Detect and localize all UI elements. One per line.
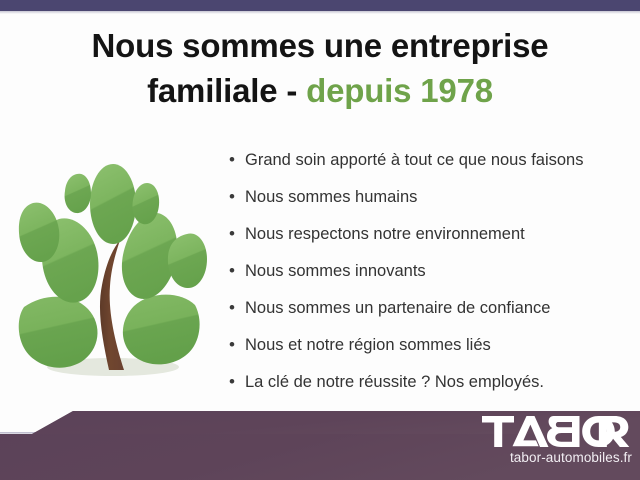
bullet-marker-icon: • — [229, 259, 245, 283]
bullet-marker-icon: • — [229, 333, 245, 357]
bullet-marker-icon: • — [229, 370, 245, 394]
logo-letter-b — [547, 416, 580, 447]
tree-leaf-lower-right — [123, 295, 200, 365]
list-item-label: Nous et notre région sommes liés — [245, 333, 491, 357]
list-item: • Nous sommes un partenaire de confiance — [229, 296, 629, 333]
brand-logo[interactable]: tabor-automobiles.fr — [470, 414, 635, 474]
tree-leaf-top-center — [90, 164, 136, 244]
list-item-label: Nous respectons notre environnement — [245, 222, 525, 246]
bullet-marker-icon: • — [229, 222, 245, 246]
list-item-label: La clé de notre réussite ? Nos employés. — [245, 370, 544, 394]
top-accent-band-shadow — [0, 11, 640, 14]
brand-wordmark — [482, 416, 630, 448]
list-item-label: Grand soin apporté à tout ce que nous fa… — [245, 148, 583, 172]
brand-website-url[interactable]: tabor-automobiles.fr — [470, 450, 632, 465]
tree-trunk — [100, 240, 124, 370]
tree-leaf-far-right — [168, 234, 207, 289]
tree-leaf-far-left — [19, 203, 59, 262]
headline-line-1: Nous sommes une entreprise — [92, 27, 549, 64]
list-item: • Nous et notre région sommes liés — [229, 333, 629, 370]
tree-leaf-top-left — [65, 174, 91, 213]
slide-canvas: Nous sommes une entreprise familiale -de… — [0, 0, 640, 480]
list-item: • Nous respectons notre environnement — [229, 222, 629, 259]
value-proposition-list: • Grand soin apporté à tout ce que nous … — [229, 148, 629, 407]
bullet-marker-icon: • — [229, 148, 245, 172]
logo-letter-a — [513, 416, 549, 447]
tree-illustration — [12, 152, 208, 387]
list-item-label: Nous sommes un partenaire de confiance — [245, 296, 550, 320]
headline-line-2-accent: depuis 1978 — [306, 72, 493, 109]
tree-leaf-lower-left — [19, 297, 98, 368]
list-item: • Nous sommes innovants — [229, 259, 629, 296]
bullet-marker-icon: • — [229, 185, 245, 209]
headline-line-2-main: familiale - — [147, 72, 297, 109]
list-item: • Grand soin apporté à tout ce que nous … — [229, 148, 629, 185]
logo-letter-t — [482, 416, 514, 447]
page-title: Nous sommes une entreprise familiale -de… — [0, 24, 640, 114]
list-item-label: Nous sommes humains — [245, 185, 417, 209]
top-accent-band — [0, 0, 640, 11]
bullet-marker-icon: • — [229, 296, 245, 320]
list-item: • Nous sommes humains — [229, 185, 629, 222]
list-item: • La clé de notre réussite ? Nos employé… — [229, 370, 629, 407]
list-item-label: Nous sommes innovants — [245, 259, 426, 283]
